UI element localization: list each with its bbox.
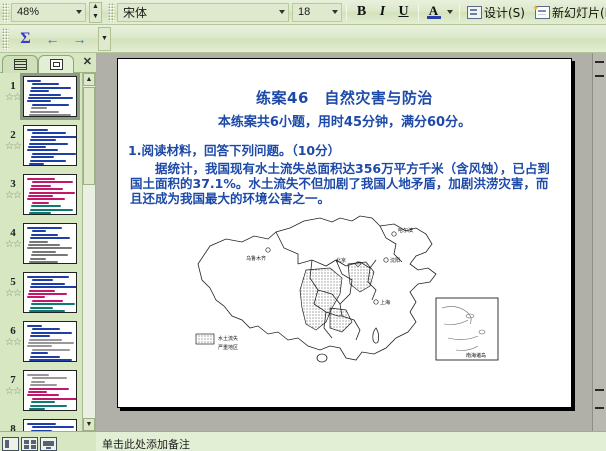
thumbnail-text-line (30, 307, 53, 309)
thumbnail-text-line (31, 401, 55, 403)
thumbnail-text-line (32, 202, 49, 204)
thumbnail-text-line (27, 80, 41, 82)
scrollbar-mark (595, 389, 604, 391)
powerpoint-window: 48% ▲ ▼ 宋体 18 B I U A (0, 0, 606, 451)
thumbnail-text-line (27, 423, 56, 425)
thumbnail-text-line (32, 328, 60, 330)
thumbnail-text-line (27, 325, 42, 327)
map-city-shenyang: 沈阳 (390, 257, 400, 264)
panel-scrollbar[interactable]: ▲ ▼ (82, 73, 95, 431)
slides-panel: ✕ 1☆☆2☆☆3☆☆4☆☆5☆☆6☆☆7☆☆8☆☆ ▲ ▼ (0, 53, 96, 431)
thumbnail-meta: 8☆☆ (3, 419, 23, 431)
toolbar-overflow-button[interactable]: ▼ (98, 27, 111, 51)
thumbnail-text-line (28, 293, 67, 295)
slide-transition-icon[interactable]: ☆☆ (3, 386, 23, 397)
new-slide-button[interactable]: ✦ 新幻灯片(N) (532, 2, 606, 23)
slide-thumbnail-list[interactable]: 1☆☆2☆☆3☆☆4☆☆5☆☆6☆☆7☆☆8☆☆ (0, 73, 82, 431)
map-city-harbin: 哈尔滨 (398, 227, 413, 234)
slide-thumbnail-6[interactable]: 6☆☆ (0, 321, 82, 370)
tab-outline[interactable] (2, 55, 38, 73)
thumbnail-meta: 7☆☆ (3, 370, 23, 397)
thumbnail-text-line (30, 209, 73, 211)
thumbnail-text-line (30, 335, 50, 337)
slide-thumbnail-3[interactable]: 3☆☆ (0, 174, 82, 223)
thumbnail-text-line (29, 359, 72, 361)
thumbnail-text-line (29, 163, 44, 165)
view-normal-button[interactable] (2, 437, 19, 451)
toolbar-separator-2 (418, 4, 419, 21)
thumbnail-meta: 1☆☆ (3, 76, 23, 103)
legend-swatch (196, 334, 214, 344)
font-group-grip[interactable] (108, 3, 115, 22)
slide-number: 3 (3, 178, 23, 190)
thumbnail-preview[interactable] (23, 272, 77, 313)
slide-number: 5 (3, 276, 23, 288)
thumbnail-text-line (32, 300, 63, 302)
font-size-value: 18 (293, 6, 328, 18)
slide-number: 6 (3, 325, 23, 337)
thumbnail-text-line (27, 227, 62, 229)
thumbnail-text-line (29, 241, 48, 243)
font-name-value: 宋体 (118, 4, 275, 21)
font-color-dropdown-icon[interactable] (444, 2, 455, 23)
thumbnail-text-line (31, 136, 77, 138)
thumbnail-text-line (29, 114, 71, 116)
arrow-right-icon: → (73, 31, 87, 47)
thumbnail-text-line (30, 90, 49, 92)
thumbnail-text-line (27, 198, 65, 200)
thumbnail-text-line (27, 100, 51, 102)
slide-workspace: 练案46 自然灾害与防治 本练案共6小题，用时45分钟，满分60分。 1.阅读材… (96, 53, 592, 431)
slide-transition-icon[interactable]: ☆☆ (3, 239, 23, 250)
thumbnail-text-line (29, 261, 58, 263)
thumbnail-text-line (32, 230, 46, 232)
slide-thumbnail-4[interactable]: 4☆☆ (0, 223, 82, 272)
new-slide-label: 新幻灯片(N) (552, 4, 606, 21)
map-inset: 南海诸岛 (436, 298, 498, 360)
overflow-chevron-icon: ▼ (101, 36, 108, 42)
map-inset-label: 南海诸岛 (466, 352, 486, 359)
thumbnail-text-line (32, 132, 66, 134)
slide-thumbnail-5[interactable]: 5☆☆ (0, 272, 82, 321)
thumbnail-text-line (28, 146, 46, 148)
thumbnail-text-line (30, 237, 70, 239)
thumbnail-meta: 3☆☆ (3, 174, 23, 201)
thumbnail-text-line (32, 398, 77, 400)
common-toolbar: Σ ← → ▼ (0, 25, 606, 53)
sparkle-icon: ✦ (532, 4, 540, 13)
notes-placeholder: 单击此处添加备注 (102, 438, 190, 451)
thumbnail-text-line (27, 296, 45, 298)
spinner-down-icon: ▼ (92, 14, 99, 20)
panel-scroll-up-icon[interactable]: ▲ (83, 73, 95, 86)
thumbnail-text-line (31, 352, 48, 354)
thumbnail-text-line (32, 83, 59, 85)
thumbnail-text-line (28, 342, 74, 344)
thumbnail-text-line (32, 153, 76, 155)
thumbnail-text-line (27, 247, 72, 249)
thumbnail-text-line (30, 356, 60, 358)
spinner-up-icon: ▲ (92, 4, 99, 10)
zoom-combo[interactable]: 48% (11, 3, 86, 22)
tab-slides[interactable] (38, 55, 74, 73)
thumbnail-text-line (29, 310, 65, 312)
arrow-left-icon: ← (46, 31, 60, 47)
slide-title[interactable]: 练案46 自然灾害与防治 (118, 87, 571, 108)
thumbnail-text-line (27, 345, 52, 347)
thumbnail-text-line (32, 377, 67, 379)
panel-scroll-thumb[interactable] (83, 87, 95, 185)
back-button[interactable]: ← (42, 28, 63, 49)
toolbar-separator (346, 4, 347, 21)
thumbnail-text-line (31, 283, 65, 285)
slide-transition-icon[interactable]: ☆☆ (3, 337, 23, 348)
toolbar-separator-3 (459, 4, 460, 21)
thumbnail-text-line (31, 303, 75, 305)
thumbnail-text-line (29, 212, 51, 214)
thumbnail-text-line (31, 107, 47, 109)
map-city-beijing: 北京 (336, 257, 346, 264)
thumbnail-text-line (27, 394, 59, 396)
china-map-svg: 乌鲁木齐 北京 沈阳 哈尔滨 上海 水土流失 严重地区 (180, 212, 510, 372)
slide-subtitle[interactable]: 本练案共6小题，用时45分钟，满分60分。 (118, 111, 571, 130)
zoom-dropdown-icon[interactable] (72, 4, 85, 21)
china-map-image[interactable]: 乌鲁木齐 北京 沈阳 哈尔滨 上海 水土流失 严重地区 (118, 212, 571, 377)
thumbnail-text-line (31, 156, 54, 158)
font-size-dropdown-icon[interactable] (328, 4, 341, 21)
thumbnail-text-line (32, 426, 74, 428)
map-city-urumqi: 乌鲁木齐 (246, 255, 266, 262)
thumbnail-text-line (30, 139, 56, 141)
thumbnail-text-line (27, 276, 69, 278)
thumbnail-text-line (31, 185, 51, 187)
slide-number: 7 (3, 374, 23, 386)
thumbnail-text-line (31, 254, 68, 256)
thumbnail-text-line (30, 160, 66, 162)
scrollbar-mark (595, 407, 604, 409)
thumbnail-text-line (31, 332, 72, 334)
font-name-combo[interactable]: 宋体 (117, 3, 289, 22)
thumbnail-text-line (30, 384, 57, 386)
thumbnail-meta: 6☆☆ (3, 321, 23, 348)
slide-transition-icon[interactable]: ☆☆ (3, 141, 23, 152)
thumbnail-preview[interactable] (23, 76, 77, 117)
thumbnail-text-line (29, 143, 68, 145)
slide-thumbnail-2[interactable]: 2☆☆ (0, 125, 82, 174)
thumbnail-text-line (30, 286, 77, 288)
thumbnail-text-line (29, 408, 45, 410)
thumbnail-text-line (29, 388, 69, 390)
thumbnail-text-line (29, 94, 61, 96)
thumbnail-preview[interactable] (23, 419, 77, 431)
slide-transition-icon[interactable]: ☆☆ (3, 190, 23, 201)
thumbnail-text-line (32, 251, 56, 253)
view-button-bar (0, 431, 96, 451)
thumbnail-text-line (29, 192, 75, 194)
thumbnail-text-line (28, 97, 73, 99)
autosum-button[interactable]: Σ (15, 28, 36, 49)
toolbar-grip[interactable] (2, 3, 9, 22)
slide-number: 1 (3, 80, 23, 92)
slide-number: 2 (3, 129, 23, 141)
thumbnail-text-line (30, 405, 67, 407)
outline-icon (14, 59, 27, 70)
close-panel-icon[interactable]: ✕ (83, 56, 92, 69)
italic-button[interactable]: I (372, 2, 393, 23)
zoom-value: 48% (12, 6, 72, 18)
design-icon (467, 6, 482, 19)
slide-canvas[interactable]: 练案46 自然灾害与防治 本练案共6小题，用时45分钟，满分60分。 1.阅读材… (117, 58, 572, 408)
panel-tab-strip: ✕ (0, 53, 96, 73)
thumbnail-meta: 2☆☆ (3, 125, 23, 152)
font-color-button[interactable]: A (423, 2, 444, 23)
thumbnail-text-line (32, 104, 69, 106)
panel-scroll-down-icon[interactable]: ▼ (83, 418, 95, 431)
thumbnail-text-line (27, 178, 55, 180)
thumbnail-text-line (32, 181, 73, 183)
thumbnail-text-line (32, 349, 70, 351)
thumbnail-preview[interactable] (23, 321, 77, 362)
thumbnail-text-line (30, 111, 59, 113)
thumbnail-text-line (27, 129, 48, 131)
slide-number: 8 (3, 423, 23, 431)
thumbnail-text-line (29, 290, 55, 292)
thumbnail-text-line (27, 149, 58, 151)
slides-icon (50, 59, 63, 70)
thumbnail-preview[interactable] (23, 125, 77, 166)
map-city-shanghai: 上海 (380, 299, 390, 306)
thumbnail-text-line (27, 374, 49, 376)
formatting-toolbar: 48% ▲ ▼ 宋体 18 B I U A (0, 0, 606, 25)
thumbnail-text-line (31, 234, 58, 236)
thumbnail-text-line (32, 279, 53, 281)
sigma-icon: Σ (20, 30, 30, 48)
thumbnail-text-line (31, 381, 45, 383)
thumbnail-text-line (31, 205, 61, 207)
thumbnail-text-line (28, 244, 60, 246)
thumbnail-preview[interactable] (23, 370, 77, 411)
thumbnail-text-line (28, 391, 47, 393)
notes-pane[interactable]: 单击此处添加备注 (96, 431, 606, 451)
thumbnail-preview[interactable] (23, 174, 77, 215)
thumbnail-text-line (28, 195, 53, 197)
thumbnail-text-line (29, 339, 62, 341)
legend-line-2: 严重地区 (218, 344, 238, 351)
design-label: 设计(S) (484, 4, 525, 21)
thumbnail-text-line (30, 188, 63, 190)
slide-number: 4 (3, 227, 23, 239)
slide-thumbnail-8[interactable]: 8☆☆ (0, 419, 82, 431)
main-vertical-scrollbar[interactable] (592, 53, 606, 431)
slide-transition-icon[interactable]: ☆☆ (3, 92, 23, 103)
view-slideshow-button[interactable] (40, 437, 57, 451)
legend-line-1: 水土流失 (218, 335, 238, 342)
scrollbar-mark (595, 75, 604, 77)
font-color-icon: A (427, 5, 441, 19)
thumbnail-meta: 4☆☆ (3, 223, 23, 250)
font-name-dropdown-icon[interactable] (275, 4, 288, 21)
forward-button[interactable]: → (69, 28, 90, 49)
question-heading[interactable]: 1.阅读材料，回答下列问题。（10分） (128, 140, 571, 159)
question-body[interactable]: 据统计，我国现有水土流失总面积达356万平方千米（含风蚀），已占到国土面积的37… (130, 161, 559, 206)
thumbnail-meta: 5☆☆ (3, 272, 23, 299)
scrollbar-mark (595, 61, 604, 63)
thumbnail-preview[interactable] (23, 223, 77, 264)
new-slide-icon: ✦ (535, 6, 550, 19)
font-size-combo[interactable]: 18 (292, 3, 342, 22)
slide-thumbnail-1[interactable]: 1☆☆ (0, 76, 82, 125)
underline-button[interactable]: U (393, 2, 414, 23)
common-toolbar-grip[interactable] (2, 28, 9, 50)
bold-button[interactable]: B (351, 2, 372, 23)
thumbnail-text-line (30, 258, 46, 260)
zoom-spinner[interactable]: ▲ ▼ (89, 2, 102, 23)
slide-transition-icon[interactable]: ☆☆ (3, 288, 23, 299)
view-slide-sorter-button[interactable] (21, 437, 38, 451)
slide-thumbnail-7[interactable]: 7☆☆ (0, 370, 82, 419)
thumbnail-text-line (31, 87, 71, 89)
design-button[interactable]: 设计(S) (464, 2, 528, 23)
